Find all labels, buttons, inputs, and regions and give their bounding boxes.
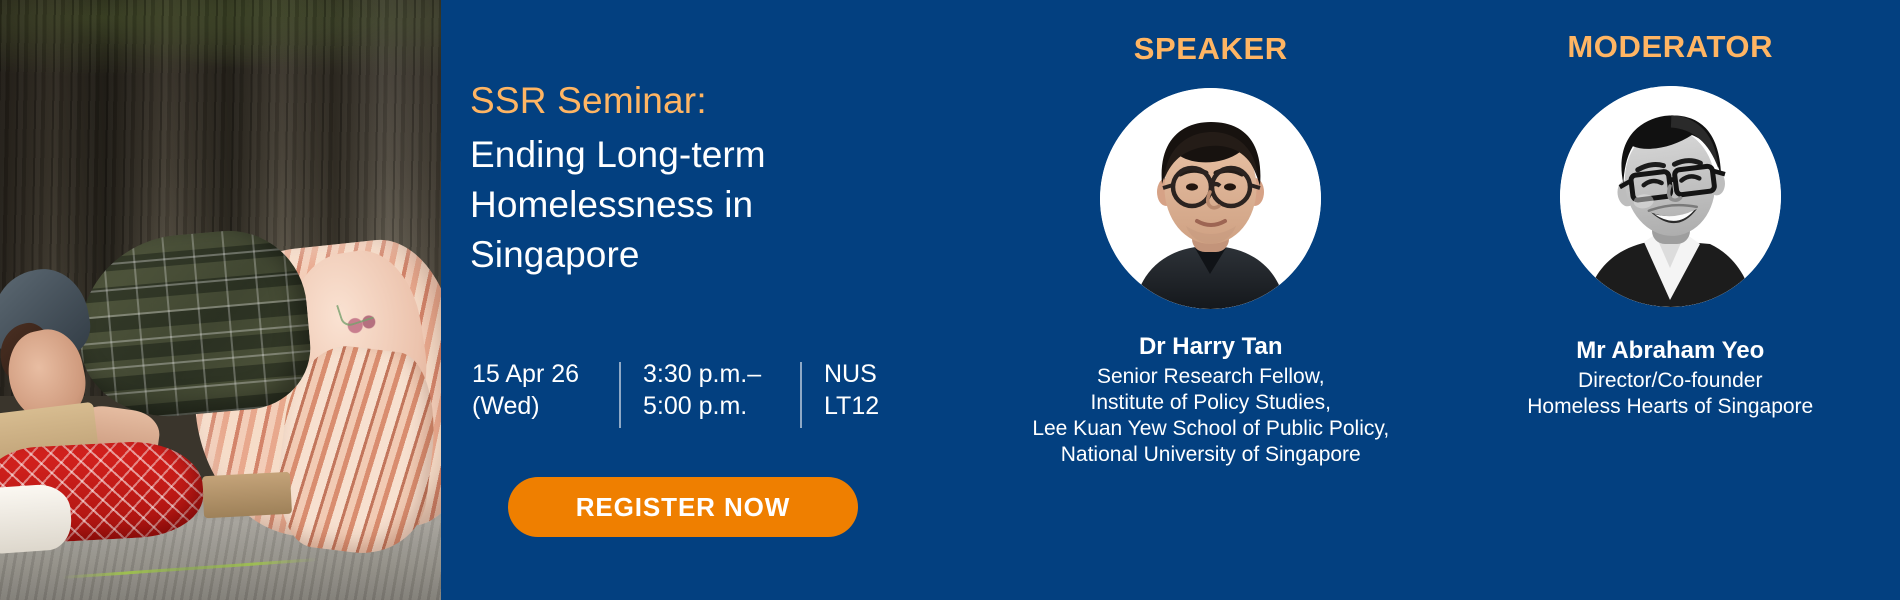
seminar-eyebrow: SSR Seminar: bbox=[470, 82, 707, 119]
seminar-venue-line-2: LT12 bbox=[824, 390, 914, 422]
people-section: SPEAKER bbox=[981, 0, 1900, 600]
speaker-portrait-icon bbox=[1100, 88, 1321, 309]
speaker-avatar bbox=[1100, 88, 1321, 309]
moderator-portrait-icon bbox=[1560, 86, 1781, 307]
cardboard-mat-second bbox=[202, 472, 292, 519]
moderator-title: Director/Co-founder Homeless Hearts of S… bbox=[1527, 368, 1813, 420]
speaker-title-line-2: Institute of Policy Studies, bbox=[1032, 390, 1389, 416]
seminar-time-line-2: 5:00 p.m. bbox=[643, 390, 778, 422]
speaker-title-line-4: National University of Singapore bbox=[1032, 442, 1389, 468]
wall-moss bbox=[0, 0, 441, 87]
moderator-name: Mr Abraham Yeo bbox=[1576, 337, 1764, 365]
meta-divider-1 bbox=[619, 362, 621, 428]
seminar-title-line-1: Ending Long-term bbox=[470, 130, 766, 180]
speaker-name: Dr Harry Tan bbox=[1139, 333, 1283, 361]
speaker-role-label: SPEAKER bbox=[1134, 33, 1288, 64]
speaker-title-line-1: Senior Research Fellow, bbox=[1032, 364, 1389, 390]
seminar-time: 3:30 p.m.– 5:00 p.m. bbox=[643, 358, 778, 422]
moderator-title-line-2: Homeless Hearts of Singapore bbox=[1527, 394, 1813, 420]
seminar-date-line-2: (Wed) bbox=[472, 390, 597, 422]
seminar-date: 15 Apr 26 (Wed) bbox=[472, 358, 597, 422]
banner-content: SSR Seminar: Ending Long-term Homelessne… bbox=[441, 0, 1900, 600]
homelessness-photo bbox=[0, 0, 441, 600]
seminar-meta-row: 15 Apr 26 (Wed) 3:30 p.m.– 5:00 p.m. NUS… bbox=[472, 358, 914, 428]
person-moderator: MODERATOR bbox=[1441, 0, 1900, 600]
moderator-avatar bbox=[1560, 86, 1781, 307]
seminar-date-line-1: 15 Apr 26 bbox=[472, 358, 597, 390]
seminar-time-line-1: 3:30 p.m.– bbox=[643, 358, 778, 390]
blanket-flower-motif bbox=[345, 310, 379, 336]
speaker-title: Senior Research Fellow, Institute of Pol… bbox=[1032, 364, 1389, 468]
seminar-info-column: SSR Seminar: Ending Long-term Homelessne… bbox=[470, 0, 990, 600]
moderator-title-line-1: Director/Co-founder bbox=[1527, 368, 1813, 394]
seminar-banner: SSR Seminar: Ending Long-term Homelessne… bbox=[0, 0, 1900, 600]
seminar-venue-line-1: NUS bbox=[824, 358, 914, 390]
seminar-venue: NUS LT12 bbox=[824, 358, 914, 422]
register-now-button[interactable]: REGISTER NOW bbox=[508, 477, 858, 537]
seminar-title-line-3: Singapore bbox=[470, 230, 766, 280]
person-speaker: SPEAKER bbox=[981, 0, 1441, 600]
meta-divider-2 bbox=[800, 362, 802, 428]
seminar-title: Ending Long-term Homelessness in Singapo… bbox=[470, 130, 766, 280]
moderator-role-label: MODERATOR bbox=[1567, 31, 1773, 62]
speaker-title-line-3: Lee Kuan Yew School of Public Policy, bbox=[1032, 416, 1389, 442]
seminar-title-line-2: Homelessness in bbox=[470, 180, 766, 230]
